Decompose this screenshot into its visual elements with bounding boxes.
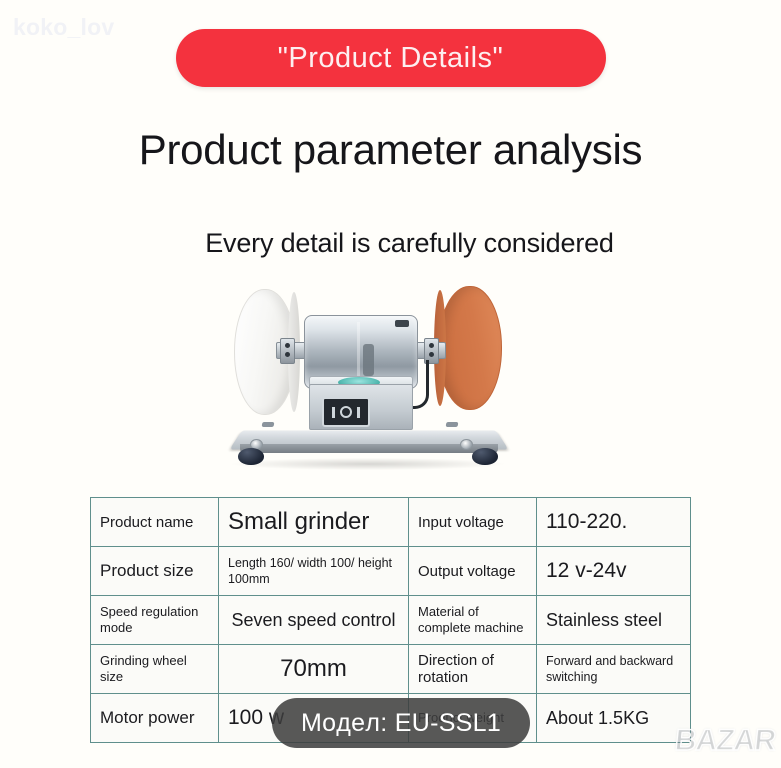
- product-details-banner: "Product Details": [176, 29, 606, 87]
- motor-ridge: [357, 322, 360, 382]
- spec-value: Small grinder: [219, 498, 409, 547]
- motor-vent: [363, 344, 374, 376]
- base-screw: [460, 439, 473, 450]
- spec-value: Length 160/ width 100/ height 100mm: [219, 547, 409, 596]
- spec-value: 110-220.: [537, 498, 691, 547]
- grinding-wheel: [438, 286, 502, 410]
- bazar-watermark: BAZAR: [673, 724, 777, 758]
- banner-label: "Product Details": [278, 42, 504, 75]
- table-row: Product size Length 160/ width 100/ heig…: [91, 547, 691, 596]
- model-label: Moдeл: EU-SSL1: [301, 709, 501, 738]
- spec-value: Stainless steel: [537, 596, 691, 645]
- spec-key: Grinding wheel size: [91, 645, 219, 694]
- switch-marking-bar: [357, 407, 360, 418]
- collar-hole: [285, 352, 290, 357]
- spec-key: Material of complete machine: [409, 596, 537, 645]
- spec-key: Motor power: [91, 694, 219, 743]
- photo-ground-shadow: [232, 458, 504, 470]
- product-photo: [224, 276, 514, 488]
- collar-hole: [429, 352, 434, 357]
- spec-key: Product name: [91, 498, 219, 547]
- left-collar: [280, 338, 295, 364]
- base-slot: [262, 422, 275, 427]
- spec-value: 70mm: [219, 645, 409, 694]
- spec-value: Forward and backward switching: [537, 645, 691, 694]
- spec-key: Speed regulation mode: [91, 596, 219, 645]
- model-overlay-badge: Moдeл: EU-SSL1: [272, 698, 530, 748]
- spec-value: Seven speed control: [219, 596, 409, 645]
- power-switch: [322, 397, 370, 427]
- spec-key: Output voltage: [409, 547, 537, 596]
- switch-marking-bar: [332, 407, 335, 418]
- collar-hole: [285, 343, 290, 348]
- collar-hole: [429, 343, 434, 348]
- page-title: Product parameter analysis: [0, 126, 781, 174]
- page-subtitle: Every detail is carefully considered: [0, 228, 781, 259]
- table-row: Speed regulation mode Seven speed contro…: [91, 596, 691, 645]
- table-row: Product name Small grinder Input voltage…: [91, 498, 691, 547]
- rubber-foot: [472, 448, 498, 465]
- spec-value: 12 v-24v: [537, 547, 691, 596]
- rubber-foot: [238, 448, 264, 465]
- table-row: Grinding wheel size 70mm Direction of ro…: [91, 645, 691, 694]
- motor-notch: [395, 320, 409, 327]
- banner-container: "Product Details": [0, 29, 781, 87]
- spec-key: Product size: [91, 547, 219, 596]
- spec-key: Input voltage: [409, 498, 537, 547]
- spec-value: About 1.5KG: [537, 694, 691, 743]
- spec-key: Direction of rotation: [409, 645, 537, 694]
- base-slot: [446, 422, 459, 427]
- switch-marking-circle: [340, 406, 352, 418]
- product-details-page: koko_lov "Product Details" Product param…: [0, 0, 781, 768]
